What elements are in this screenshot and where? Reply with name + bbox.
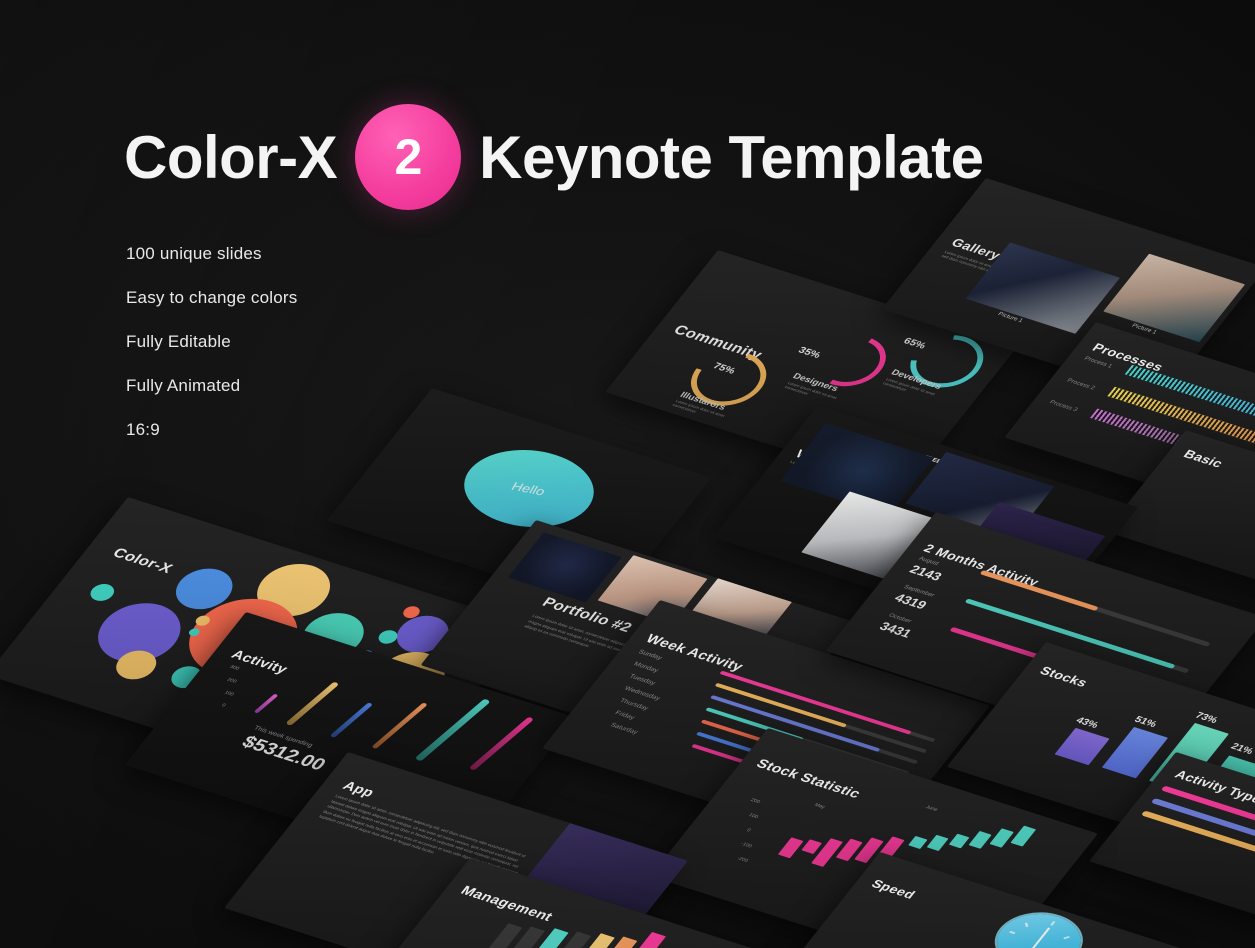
feature-item-colors: Easy to change colors [126,288,297,308]
management-title: Management [458,883,556,924]
gauge-needle [1029,927,1051,948]
stock-bar-may [778,837,804,858]
feature-list: 100 unique slides Easy to change colors … [126,244,297,440]
stock-axis-neg100: -100 [739,841,753,849]
stock-statistic-title: Stock Statistic [753,756,864,801]
stock-month-june: June [924,805,939,813]
gauge-tick [1025,923,1029,928]
activity-type-title: Activity Type [1172,767,1255,806]
bubble [86,581,118,603]
stock-bar-june [969,831,992,849]
activity-axis-0: 0 [220,703,227,709]
version-badge-label: 2 [395,128,422,186]
activity-bar [330,702,373,738]
stocks-bar-1 [1055,728,1110,765]
activity-type-bar [1141,810,1255,863]
promo-page: Color-X 2 Hello [0,0,1255,948]
stock-bar-june [908,836,927,849]
stocks-title: Stocks [1037,664,1091,690]
feature-item-slides: 100 unique slides [126,244,297,264]
feature-item-animated: Fully Animated [126,376,297,396]
stock-axis-0: 0 [745,828,752,834]
version-badge: 2 [355,104,461,210]
week-day-saturday: Saturday [609,722,639,736]
title-part-1: Color-X [124,123,337,192]
week-fill-sunday [719,671,911,735]
gallery-photo-2 [1103,254,1245,342]
activity-bar [285,681,339,726]
hello-label: Hello [509,479,548,497]
gauge-tick [1050,921,1055,926]
hello-ellipse: Hello [443,436,614,541]
basic-title: Basic [1181,447,1227,470]
activity-axis-200: 200 [226,677,238,684]
week-day-friday: Friday [614,710,636,721]
process-2-label: Process 2 [1065,378,1095,391]
month-value-august: 2143 [907,562,945,583]
title-part-2: Keynote Template [479,123,983,192]
activity-axis-300: 300 [228,664,240,671]
activity-bar [469,716,534,770]
feature-item-aspect-ratio: 16:9 [126,420,297,440]
stock-axis-200: 200 [749,798,761,805]
week-day-sunday: Sunday [637,649,663,662]
week-day-thursday: Thursday [618,698,649,712]
stock-month-may: May [813,802,826,810]
stock-bar-june [949,834,970,849]
bubbles-title: Color-X [109,545,176,576]
activity-bar [371,702,427,749]
week-day-tuesday: Tuesday [628,673,657,686]
stocks-percent-4: 21% [1228,742,1255,757]
gauge-tick [1063,936,1069,939]
stock-bar-june [1010,826,1036,847]
page-title: Color-X 2 Keynote Template [124,104,984,210]
activity-axis-100: 100 [223,690,235,697]
feature-item-editable: Fully Editable [126,332,297,352]
gauge-tick [1009,931,1015,934]
speed-gauge [983,905,1095,948]
activity-bar [254,694,279,714]
activity-title: Activity [229,647,292,676]
week-day-monday: Monday [632,661,659,674]
process-3-label: Process 3 [1048,400,1078,413]
stock-bar-june [927,835,949,851]
two-months-title: 2 Months Activity [921,541,1043,589]
stock-axis-100: 100 [747,813,759,820]
stock-axis-neg200: -200 [735,856,749,864]
stock-bar-june [989,828,1013,847]
activity-bar [415,698,491,761]
speed-title: Speed [869,877,919,902]
